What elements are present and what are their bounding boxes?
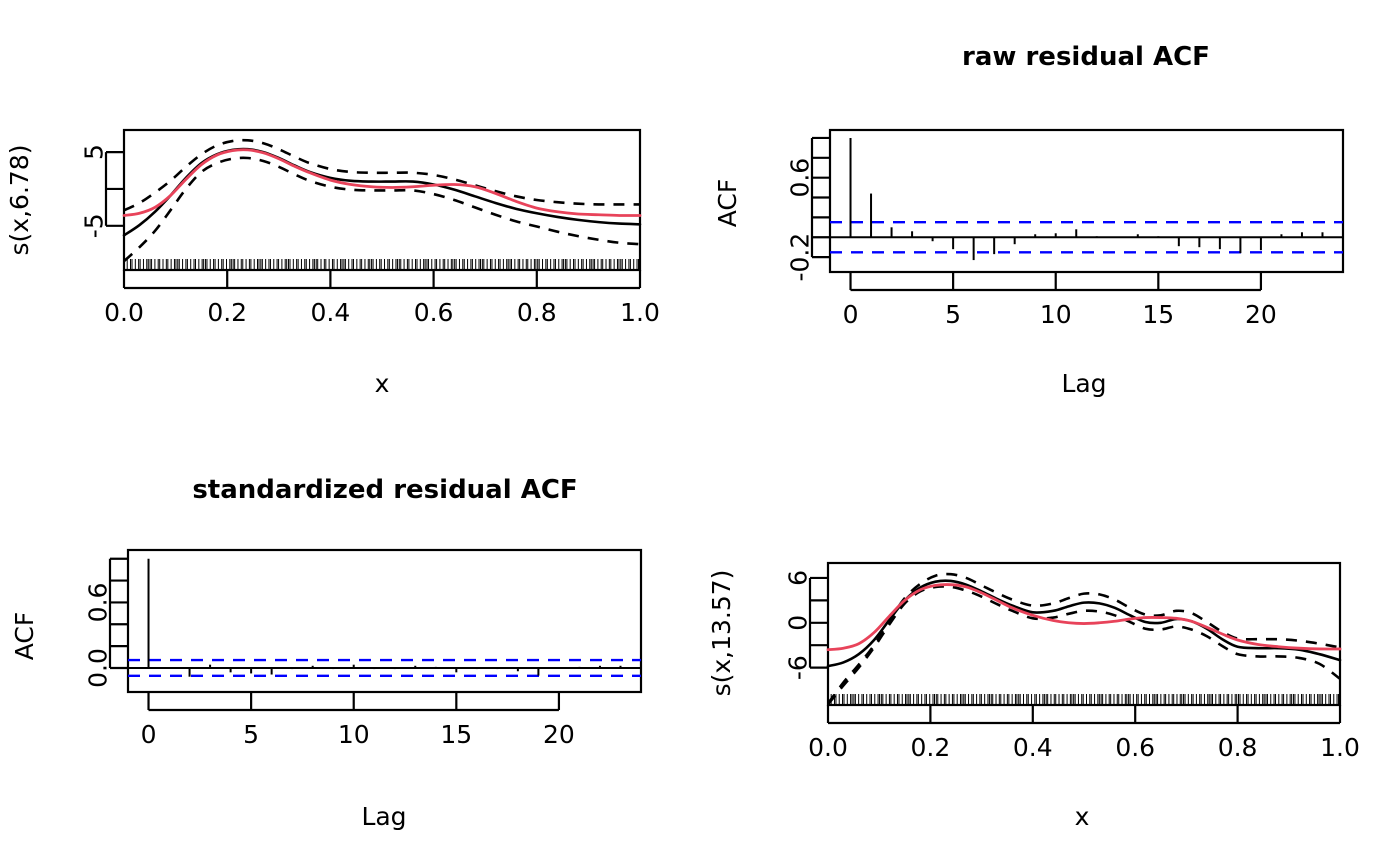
smooth-1357-xtick-2: 0.4 bbox=[1013, 733, 1053, 762]
smooth-1357-ytick-1: 0 bbox=[784, 615, 813, 631]
smooth-1357-ylabel: s(x,13.57) bbox=[707, 570, 736, 697]
smooth-1357-rug bbox=[828, 694, 1339, 705]
panel-smooth-678: 5-50.00.20.40.60.81.0 s(x,6.78) x bbox=[0, 0, 700, 433]
smooth-678-svg: 5-50.00.20.40.60.81.0 s(x,6.78) x bbox=[0, 0, 700, 433]
panel-smooth-1357: 60-60.00.20.40.60.81.0 s(x,13.57) x bbox=[700, 433, 1400, 866]
smooth-1357-xtick-5: 1.0 bbox=[1320, 733, 1360, 762]
standardized-residual-acf-xtick-4: 20 bbox=[543, 720, 575, 749]
smooth-1357-xlabel: x bbox=[1075, 802, 1090, 831]
smooth-678-ylabel: s(x,6.78) bbox=[5, 145, 34, 256]
smooth-678-ytick-2: -5 bbox=[80, 213, 109, 238]
smooth-678-xtick-0: 0.0 bbox=[104, 298, 144, 327]
raw-residual-acf-plot-box bbox=[830, 130, 1343, 272]
smooth-678-plot-box bbox=[124, 130, 640, 270]
smooth-1357-plot-box bbox=[828, 563, 1340, 705]
raw-residual-acf-xtick-1: 5 bbox=[945, 300, 961, 329]
smooth-1357-xtick-0: 0.0 bbox=[808, 733, 848, 762]
std-acf-plot: 0.60.005101520 bbox=[84, 550, 642, 749]
smooth-678-yaxis: 5-5 bbox=[80, 144, 125, 238]
panel-standardized-residual-acf: standardized residual ACF 0.60.005101520… bbox=[0, 433, 700, 866]
figure-canvas: 5-50.00.20.40.60.81.0 s(x,6.78) x raw re… bbox=[0, 0, 1400, 866]
standardized-residual-acf-ytick-0: 0.6 bbox=[84, 583, 113, 623]
smooth-678-series-0 bbox=[124, 149, 640, 235]
standardized-residual-acf-plot-box bbox=[128, 550, 641, 692]
smooth-1357-xtick-3: 0.6 bbox=[1115, 733, 1155, 762]
smooth-678-plot: 5-50.00.20.40.60.81.0 bbox=[80, 130, 660, 327]
raw-residual-acf-xtick-0: 0 bbox=[843, 300, 859, 329]
smooth-1357-series-1 bbox=[828, 574, 1340, 703]
std-acf-xlabel: Lag bbox=[361, 802, 406, 831]
standardized-residual-acf-ytick-1: 0.0 bbox=[84, 648, 113, 688]
standardized-residual-acf-yaxis: 0.60.0 bbox=[84, 559, 129, 688]
standardized-residual-acf-xtick-1: 5 bbox=[243, 720, 259, 749]
raw-acf-plot: 0.6-0.205101520 bbox=[786, 130, 1344, 329]
smooth-1357-xaxis: 0.00.20.40.60.81.0 bbox=[808, 705, 1360, 762]
smooth-678-xtick-5: 1.0 bbox=[620, 298, 660, 327]
smooth-1357-yaxis: 60-6 bbox=[784, 570, 829, 680]
smooth-678-xtick-3: 0.6 bbox=[414, 298, 454, 327]
raw-residual-acf-xtick-4: 20 bbox=[1245, 300, 1277, 329]
panel-raw-residual-acf: raw residual ACF 0.6-0.205101520 ACF Lag bbox=[700, 0, 1400, 433]
standardized-residual-acf-xtick-0: 0 bbox=[141, 720, 157, 749]
raw-acf-ylabel: ACF bbox=[713, 179, 742, 228]
raw-acf-svg: raw residual ACF 0.6-0.205101520 ACF Lag bbox=[700, 0, 1400, 433]
smooth-1357-xtick-4: 0.8 bbox=[1218, 733, 1258, 762]
raw-acf-title: raw residual ACF bbox=[962, 42, 1210, 72]
smooth-678-ytick-0: 5 bbox=[80, 144, 109, 160]
smooth-678-xaxis: 0.00.20.40.60.81.0 bbox=[104, 270, 660, 327]
raw-acf-xlabel: Lag bbox=[1061, 369, 1106, 398]
raw-residual-acf-xaxis: 05101520 bbox=[843, 272, 1277, 329]
smooth-1357-ytick-2: -6 bbox=[784, 655, 813, 680]
smooth-678-xtick-2: 0.4 bbox=[311, 298, 351, 327]
standardized-residual-acf-xaxis: 05101520 bbox=[141, 692, 575, 749]
standardized-residual-acf-xtick-3: 15 bbox=[440, 720, 472, 749]
smooth-678-series-1 bbox=[124, 140, 640, 210]
smooth-1357-xtick-1: 0.2 bbox=[911, 733, 951, 762]
raw-residual-acf-xtick-2: 10 bbox=[1040, 300, 1072, 329]
std-acf-svg: standardized residual ACF 0.60.005101520… bbox=[0, 433, 700, 866]
smooth-1357-svg: 60-60.00.20.40.60.81.0 s(x,13.57) x bbox=[700, 433, 1400, 866]
std-acf-title: standardized residual ACF bbox=[192, 475, 577, 505]
raw-residual-acf-ytick-0: 0.6 bbox=[786, 158, 815, 198]
raw-residual-acf-xtick-3: 15 bbox=[1142, 300, 1174, 329]
smooth-1357-plot: 60-60.00.20.40.60.81.0 bbox=[784, 563, 1360, 762]
smooth-1357-ytick-0: 6 bbox=[784, 570, 813, 586]
smooth-678-xtick-4: 0.8 bbox=[517, 298, 557, 327]
raw-residual-acf-ytick-1: -0.2 bbox=[786, 233, 815, 282]
standardized-residual-acf-xtick-2: 10 bbox=[338, 720, 370, 749]
smooth-678-xlabel: x bbox=[375, 369, 390, 398]
raw-residual-acf-yaxis: 0.6-0.2 bbox=[786, 138, 831, 282]
smooth-678-xtick-1: 0.2 bbox=[207, 298, 247, 327]
raw-residual-acf-stems bbox=[851, 138, 1323, 260]
std-acf-ylabel: ACF bbox=[10, 612, 39, 661]
smooth-678-rug bbox=[124, 259, 639, 270]
